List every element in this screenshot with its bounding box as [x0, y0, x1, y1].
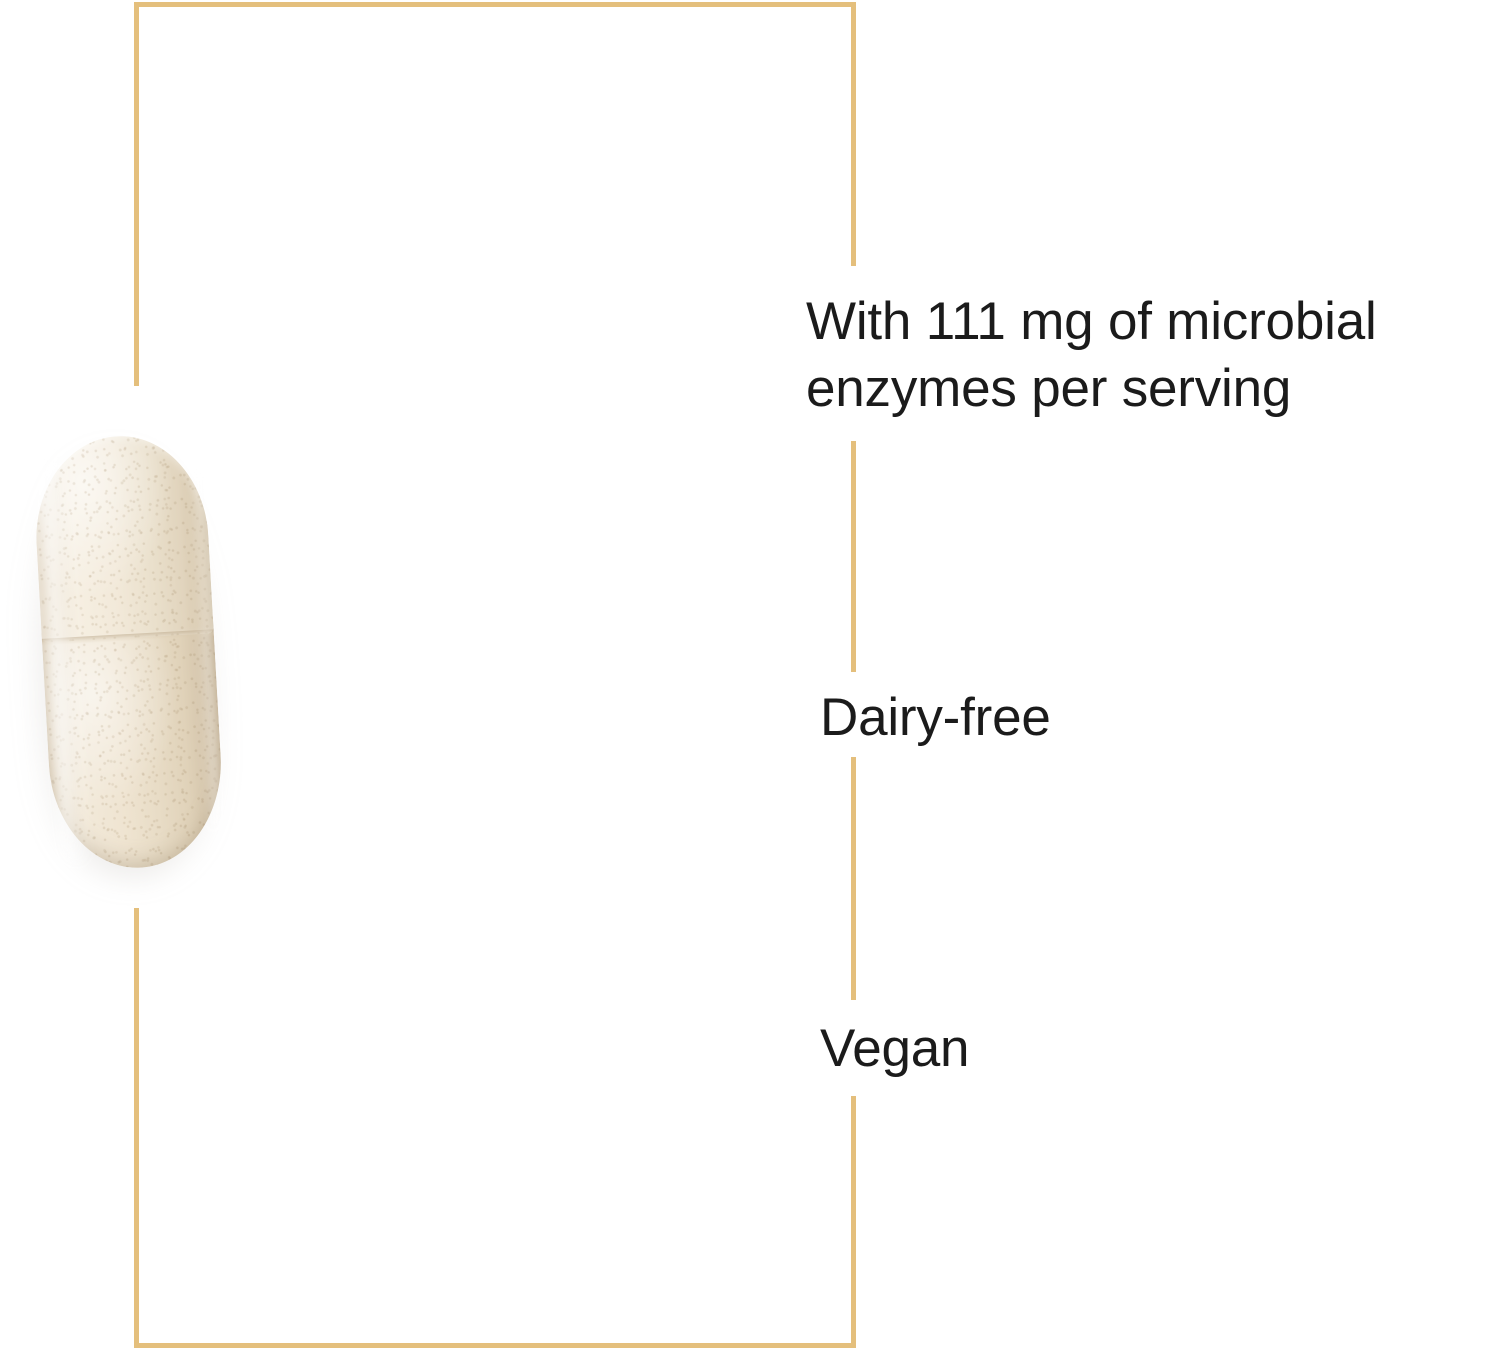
feature-label-vegan: Vegan: [820, 1016, 969, 1083]
frame-line-right-segment-4: [851, 1096, 856, 1346]
feature-label-enzymes: With 111 mg of microbial enzymes per ser…: [806, 289, 1499, 423]
frame-line-left-lower: [134, 908, 139, 1348]
frame-line-top: [134, 2, 856, 7]
capsule-image: [24, 431, 234, 883]
product-feature-panel: With 111 mg of microbial enzymes per ser…: [0, 0, 1499, 1350]
feature-label-dairy-free: Dairy-free: [820, 685, 1051, 752]
frame-line-bottom: [134, 1343, 856, 1348]
frame-line-right-segment-3: [851, 757, 856, 1000]
frame-line-right-segment-2: [851, 441, 856, 672]
frame-line-left-upper: [134, 2, 139, 386]
frame-line-right-segment-1: [851, 2, 856, 266]
